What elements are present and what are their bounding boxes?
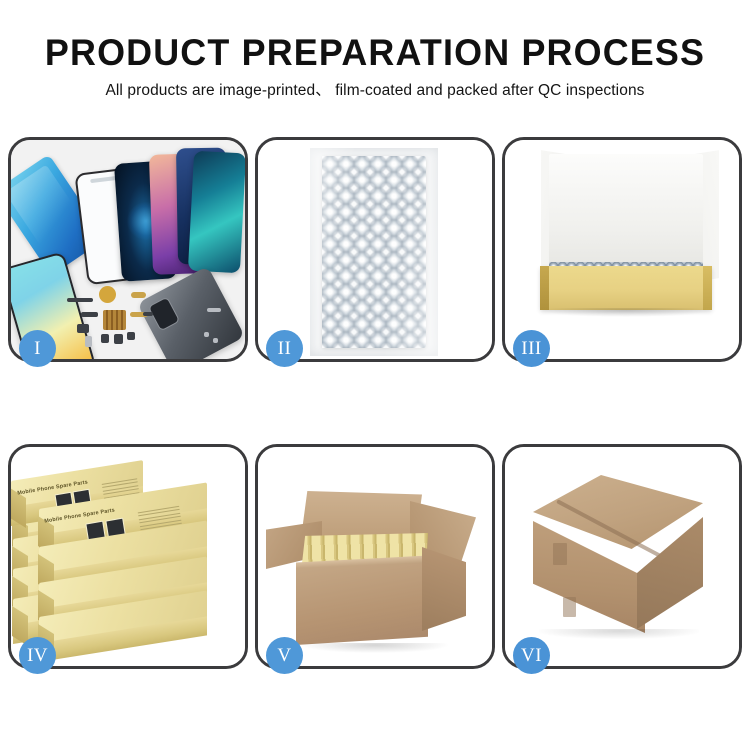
part-button-bracket <box>101 334 109 343</box>
mailer-drop-shadow <box>543 308 709 317</box>
step-badge-1-label: I <box>34 339 41 358</box>
part-connector-strip <box>67 298 93 302</box>
step-2-image <box>258 140 492 359</box>
part-speaker-coil <box>99 286 116 303</box>
part-taptic-engine <box>114 334 123 344</box>
part-screw-plate <box>127 332 135 340</box>
step-badge-3-label: III <box>521 339 541 358</box>
bubble-wrap-sheet <box>310 148 438 356</box>
sealed-carton-flap-tab-lower <box>563 597 576 617</box>
step-5-image <box>258 447 492 666</box>
phone-housing-disassembled <box>137 266 245 359</box>
process-step-5[interactable]: V <box>255 444 495 669</box>
step-badge-2-label: II <box>278 339 292 358</box>
step-6-image <box>505 447 739 666</box>
step-badge-5-label: V <box>277 646 291 665</box>
retail-box-fr-4 <box>39 617 207 666</box>
carton-front-panel <box>296 563 428 645</box>
part-flex-cable-1 <box>131 292 146 298</box>
page-title: PRODUCT PREPARATION PROCESS <box>11 0 739 73</box>
process-step-1[interactable]: I <box>8 137 248 362</box>
part-flex-cable-3 <box>81 312 98 317</box>
sealed-carton-drop-shadow <box>539 629 699 639</box>
sealed-carton-flap-tab-upper <box>553 543 567 565</box>
process-step-2[interactable]: II <box>255 137 495 362</box>
step-badge-3: III <box>513 330 550 367</box>
step-1-image <box>11 140 245 359</box>
page-header: PRODUCT PREPARATION PROCESS All products… <box>0 0 750 100</box>
part-tool-tweezer <box>207 308 221 312</box>
process-steps-grid: I II <box>8 137 742 683</box>
step-3-image <box>505 140 739 359</box>
part-sim-tray <box>85 336 92 347</box>
step-badge-4: IV <box>19 637 56 674</box>
process-step-4[interactable]: Mobile Phone Spare Parts Mobile Phone Sp… <box>8 444 248 669</box>
part-camera-module <box>77 324 89 333</box>
step-badge-6-label: VI <box>521 646 542 665</box>
process-step-3[interactable]: III <box>502 137 742 362</box>
page-subtitle: All products are image-printed、 film-coa… <box>0 73 750 100</box>
part-antenna-strip <box>143 312 153 316</box>
phone-screen-teal <box>188 151 245 274</box>
retail-box-stack: Mobile Phone Spare Parts Mobile Phone Sp… <box>11 447 245 666</box>
step-badge-1: I <box>19 330 56 367</box>
mailer-box-body-yellow <box>540 266 712 310</box>
step-badge-6: VI <box>513 637 550 674</box>
carton-drop-shadow <box>302 643 448 653</box>
product-preparation-process-page: PRODUCT PREPARATION PROCESS All products… <box>0 0 750 750</box>
part-screw-1 <box>204 332 209 337</box>
step-badge-5: V <box>266 637 303 674</box>
part-screw-2 <box>213 338 218 343</box>
step-4-image: Mobile Phone Spare Parts Mobile Phone Sp… <box>11 447 245 666</box>
step-badge-4-label: IV <box>27 646 48 665</box>
step-badge-2: II <box>266 330 303 367</box>
bubble-wrap-bubbles <box>322 156 426 348</box>
part-logic-board <box>103 310 126 330</box>
process-step-6[interactable]: VI <box>502 444 742 669</box>
